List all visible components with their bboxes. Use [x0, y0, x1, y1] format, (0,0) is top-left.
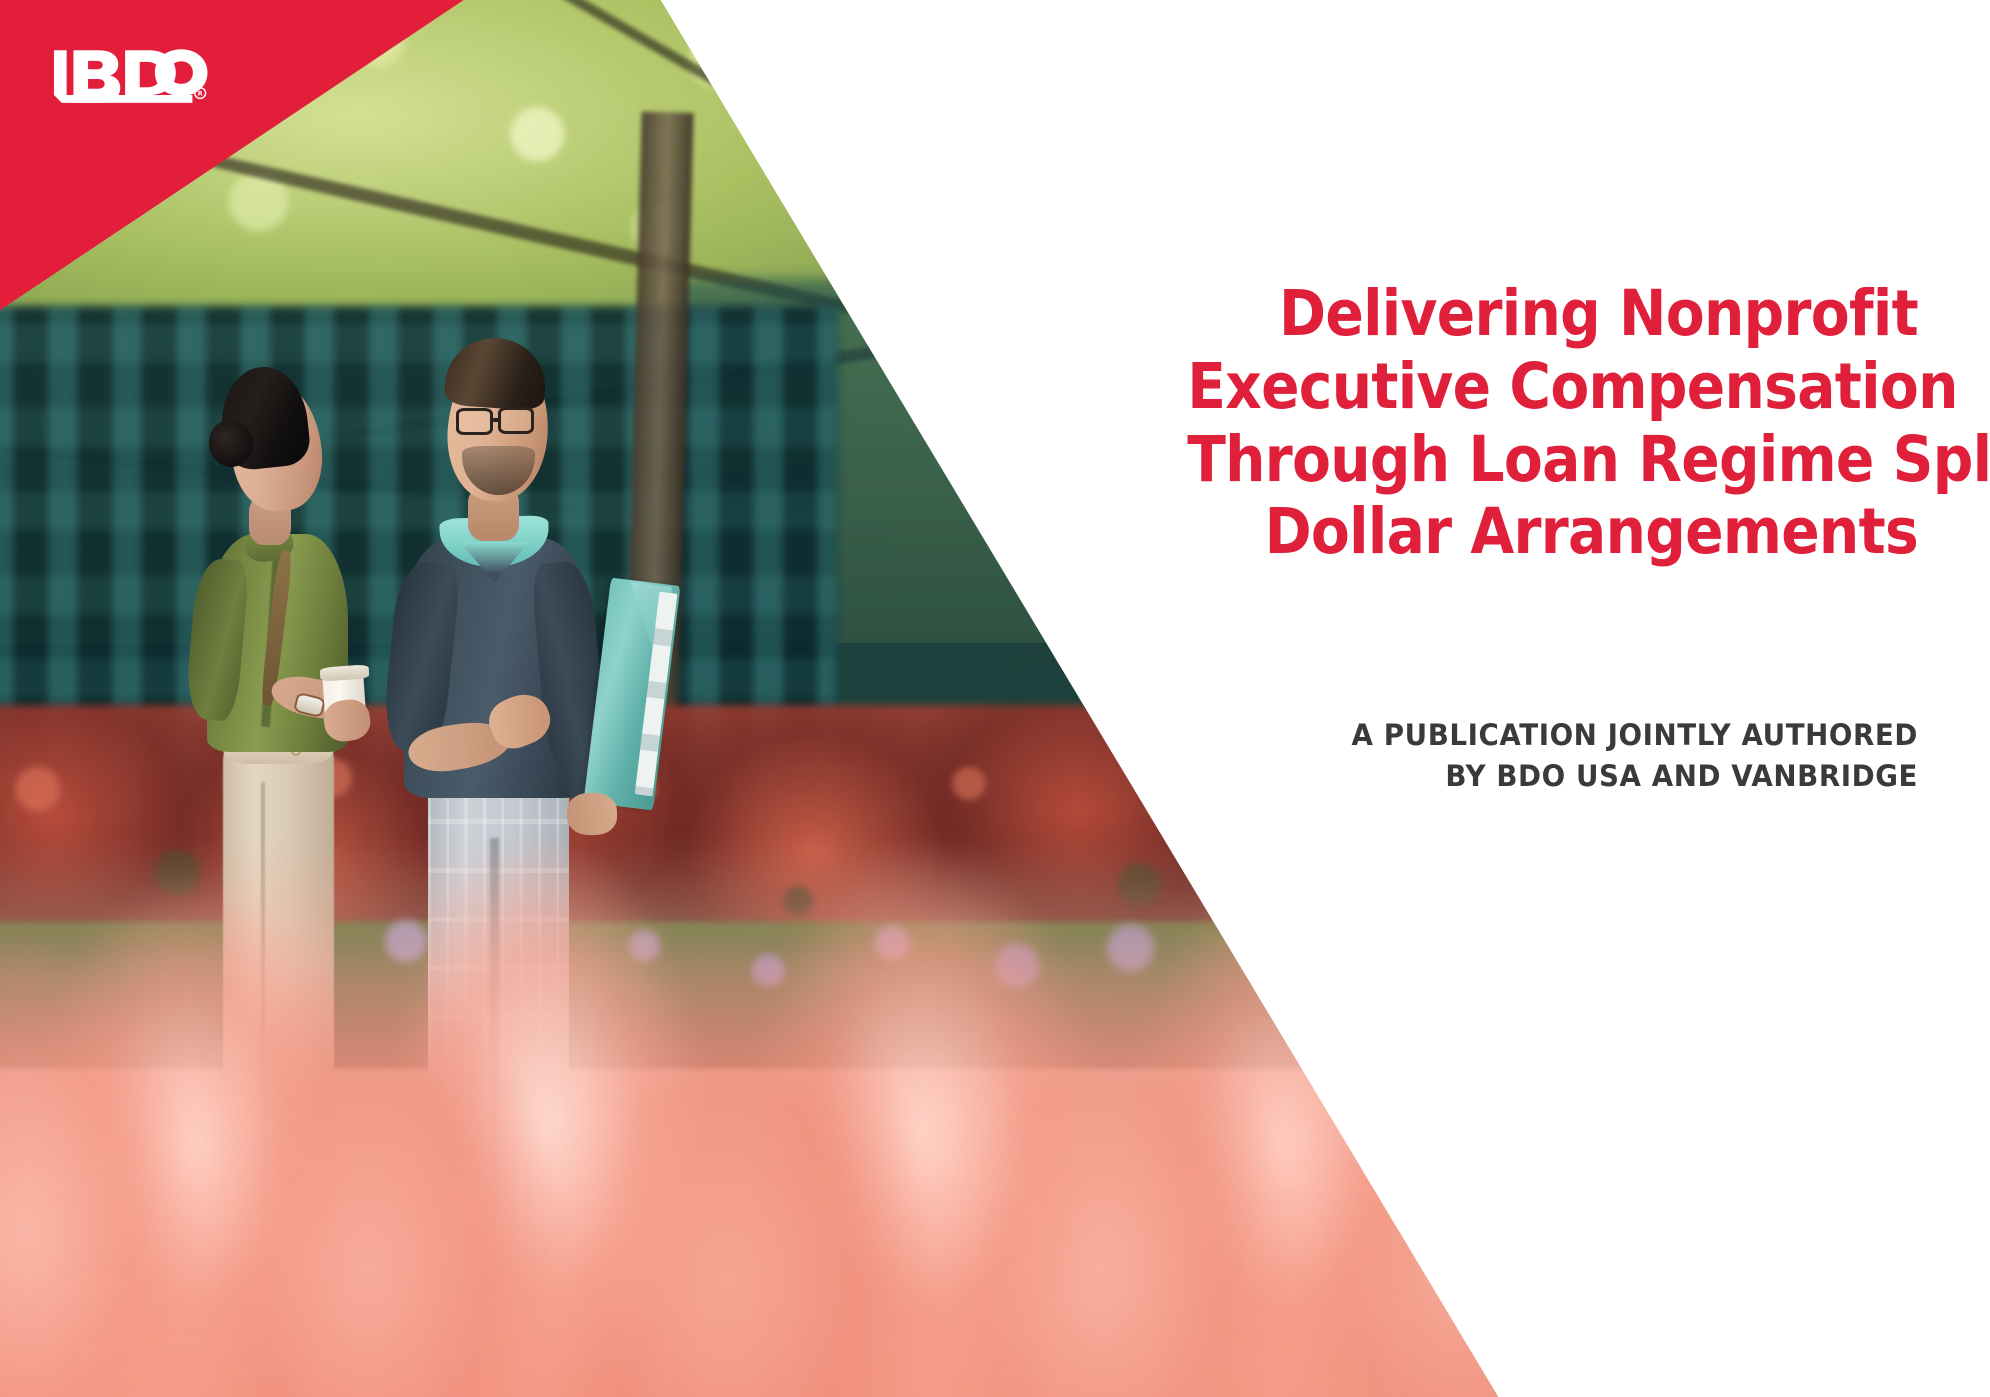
- cover-text-block: Delivering Nonprofit Executive Compensat…: [1106, 278, 1918, 797]
- eyeglasses-lens-right: [498, 407, 535, 434]
- publication-credit: A PUBLICATION JOINTLY AUTHORED BY BDO US…: [1143, 715, 1918, 797]
- eyeglasses-bridge: [492, 418, 499, 422]
- man-hand-holding-folder: [567, 793, 617, 835]
- page-title: Delivering Nonprofit Executive Compensat…: [1187, 278, 1918, 569]
- eyeglasses-lens-left: [456, 408, 493, 435]
- title-line-3: Through Loan Regime Split: [1187, 424, 1918, 497]
- bdo-logo[interactable]: R: [52, 46, 208, 108]
- title-line-2: Executive Compensation: [1187, 351, 1918, 424]
- title-line-4: Dollar Arrangements: [1187, 496, 1918, 569]
- title-line-1: Delivering Nonprofit: [1187, 278, 1918, 351]
- svg-text:R: R: [198, 91, 203, 98]
- credit-line-2: BY BDO USA AND VANBRIDGE: [1143, 756, 1918, 797]
- credit-line-1: A PUBLICATION JOINTLY AUTHORED: [1143, 715, 1918, 756]
- publication-cover: R Delivering Nonprofit Executive Compens…: [0, 0, 1990, 1397]
